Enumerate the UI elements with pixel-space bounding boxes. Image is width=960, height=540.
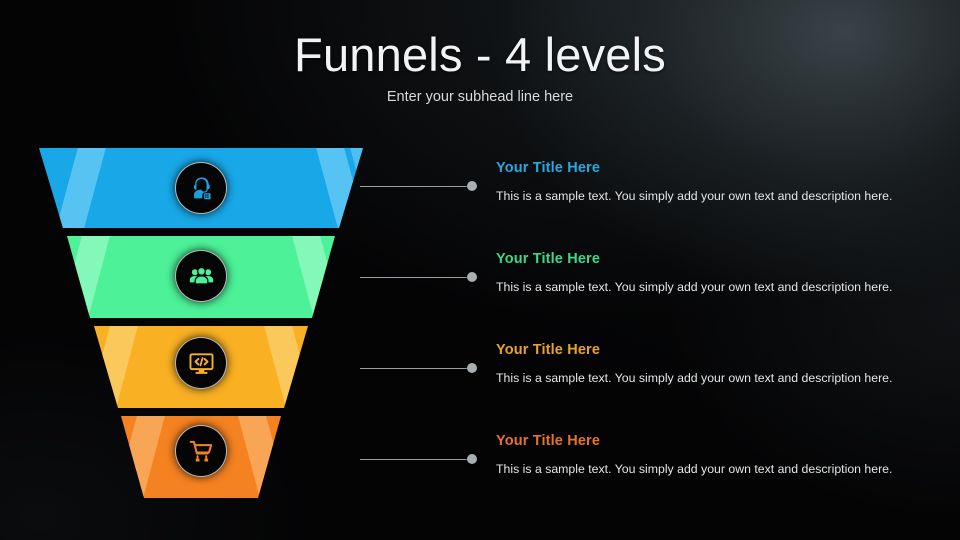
funnel-text-block-3-body: This is a sample text. You simply add yo…	[496, 367, 896, 391]
page-title: Funnels - 4 levels	[0, 30, 960, 81]
funnel-level-1-icon-badge[interactable]	[175, 162, 227, 214]
connector-3-dot	[467, 363, 477, 373]
connector-1-stroke	[360, 186, 474, 187]
slide-canvas: Funnels - 4 levels Enter your subhead li…	[0, 0, 960, 540]
connector-4-dot	[467, 454, 477, 464]
funnel-level-4-icon-badge[interactable]	[175, 425, 227, 477]
slide-header: Funnels - 4 levels Enter your subhead li…	[0, 0, 960, 105]
connector-4-stroke	[360, 459, 474, 460]
funnel-level-3-icon-badge[interactable]	[175, 337, 227, 389]
funnel-text-block-2: Your Title Here This is a sample text. Y…	[496, 251, 896, 300]
funnel-text-block-4-body: This is a sample text. You simply add yo…	[496, 458, 896, 482]
shopping-cart-icon	[188, 438, 215, 465]
connector-line-1	[360, 181, 474, 192]
funnel-text-block-2-body: This is a sample text. You simply add yo…	[496, 276, 896, 300]
funnel-text-block-3: Your Title Here This is a sample text. Y…	[496, 342, 896, 391]
connector-line-3	[360, 363, 474, 374]
funnel-text-block-1-body: This is a sample text. You simply add yo…	[496, 185, 896, 209]
funnel-diagram	[22, 140, 402, 515]
support-agent-icon	[188, 175, 215, 202]
page-subtitle: Enter your subhead line here	[0, 89, 960, 105]
funnel-level-2-icon-badge[interactable]	[175, 250, 227, 302]
connector-3-stroke	[360, 368, 474, 369]
funnel-text-block-1: Your Title Here This is a sample text. Y…	[496, 160, 896, 209]
connector-line-4	[360, 454, 474, 465]
funnel-text-block-1-title: Your Title Here	[496, 160, 896, 176]
funnel-text-block-4: Your Title Here This is a sample text. Y…	[496, 433, 896, 482]
funnel-text-block-4-title: Your Title Here	[496, 433, 896, 449]
funnel-text-block-3-title: Your Title Here	[496, 342, 896, 358]
connector-2-stroke	[360, 277, 474, 278]
code-monitor-icon	[188, 350, 215, 377]
connector-line-2	[360, 272, 474, 283]
funnel-text-block-2-title: Your Title Here	[496, 251, 896, 267]
people-group-icon	[188, 263, 215, 290]
connector-2-dot	[467, 272, 477, 282]
connector-1-dot	[467, 181, 477, 191]
